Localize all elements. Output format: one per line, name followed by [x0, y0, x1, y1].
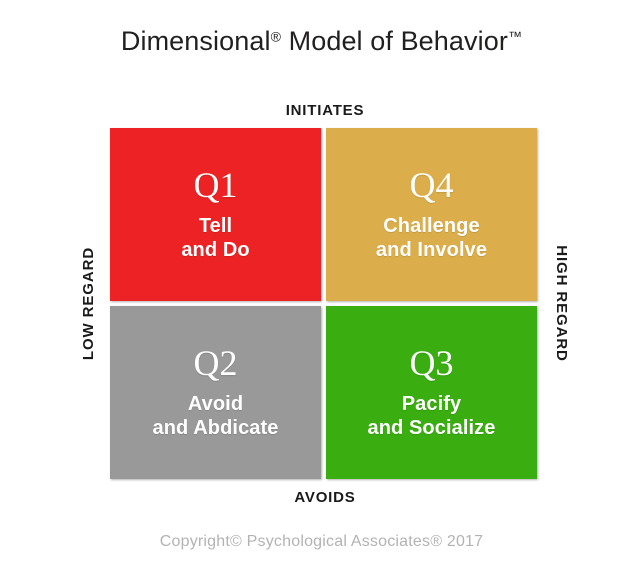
quadrant-q3-line2: and Socialize: [367, 417, 495, 441]
quadrant-q4-label: Challenge and Involve: [376, 215, 487, 262]
page-title: Dimensional® Model of Behavior™: [0, 27, 643, 57]
quadrant-q1-line2: and Do: [181, 239, 249, 263]
quadrant-q4-line2: and Involve: [376, 239, 487, 263]
quadrant-q3-label: Pacify and Socialize: [367, 393, 495, 440]
title-text-middle: Model of Behavior: [281, 26, 508, 56]
quadrant-q2-label: Avoid and Abdicate: [152, 393, 278, 440]
quadrant-q1-id: Q1: [194, 167, 238, 203]
quadrant-grid: Q1 Tell and Do Q4 Challenge and Involve …: [110, 128, 540, 479]
quadrant-q4[interactable]: Q4 Challenge and Involve: [326, 128, 537, 301]
quadrant-q1-line1: Tell: [199, 215, 232, 237]
axis-label-left: LOW REGARD: [76, 128, 102, 479]
behavior-model-diagram: INITIATES AVOIDS LOW REGARD HIGH REGARD …: [110, 128, 540, 479]
copyright-notice: Copyright© Psychological Associates® 201…: [0, 533, 643, 551]
axis-label-right-text: HIGH REGARD: [553, 245, 570, 362]
quadrant-q4-line1: Challenge: [383, 215, 479, 237]
registered-trademark-icon: ®: [271, 28, 281, 44]
quadrant-q4-id: Q4: [410, 167, 454, 203]
quadrant-q1[interactable]: Q1 Tell and Do: [110, 128, 321, 301]
axis-label-top: INITIATES: [110, 102, 540, 119]
title-text-main: Dimensional: [121, 26, 271, 56]
axis-label-bottom: AVOIDS: [110, 489, 540, 506]
axis-label-left-text: LOW REGARD: [81, 247, 98, 360]
quadrant-q2-line2: and Abdicate: [152, 417, 278, 441]
axis-label-right: HIGH REGARD: [548, 128, 574, 479]
quadrant-q2-id: Q2: [194, 345, 238, 381]
quadrant-q3-line1: Pacify: [402, 393, 462, 415]
quadrant-q3[interactable]: Q3 Pacify and Socialize: [326, 306, 537, 479]
trademark-icon: ™: [508, 28, 522, 44]
quadrant-q2[interactable]: Q2 Avoid and Abdicate: [110, 306, 321, 479]
quadrant-q3-id: Q3: [410, 345, 454, 381]
quadrant-q2-line1: Avoid: [188, 393, 243, 415]
quadrant-q1-label: Tell and Do: [181, 215, 249, 262]
